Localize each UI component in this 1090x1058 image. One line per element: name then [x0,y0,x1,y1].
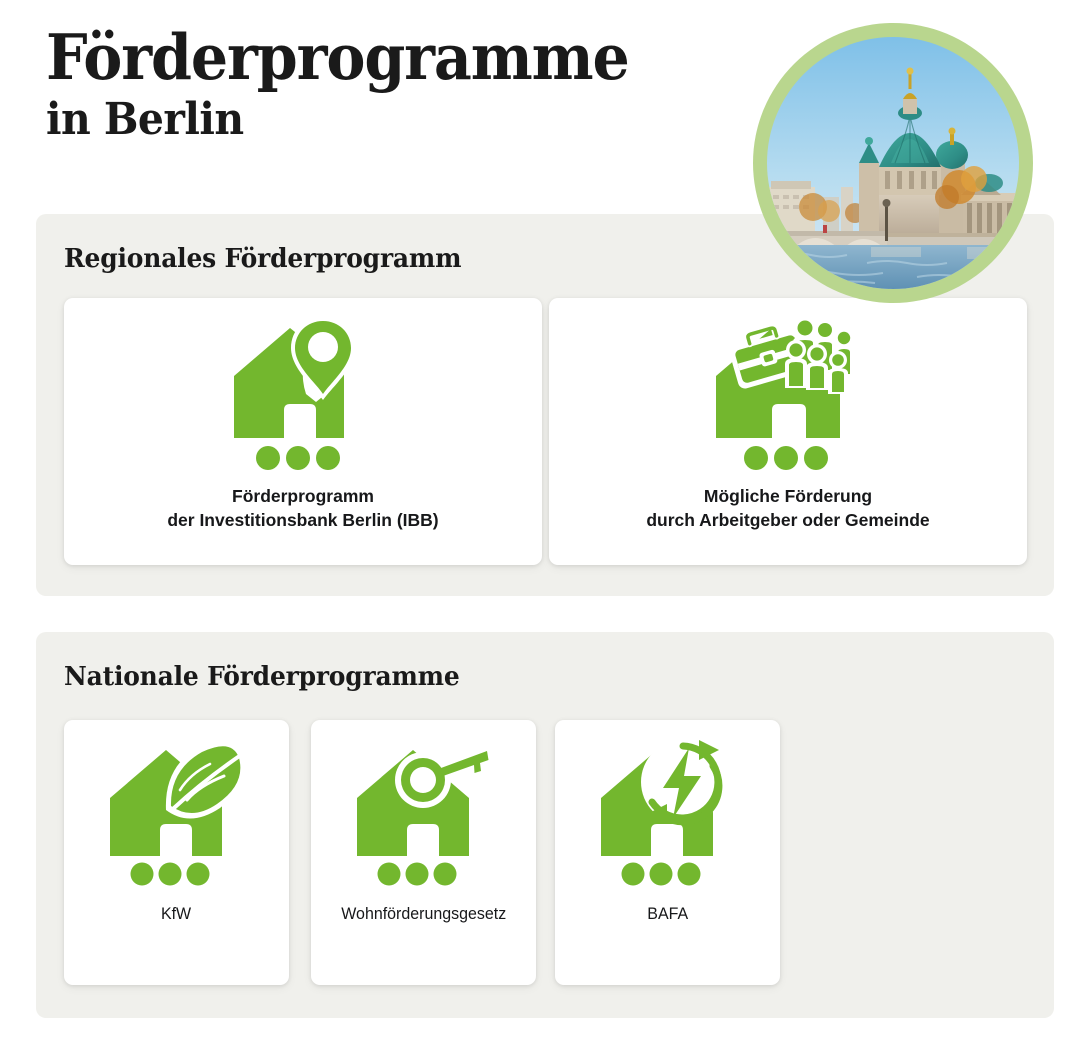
card-label-ibb: Förderprogramm der Investitionsbank Berl… [157,484,448,532]
berlin-cathedral-illustration [767,37,1019,289]
infographic-root: Förderprogramme in Berlin [0,0,1090,1058]
icon-slot [549,298,1027,484]
title-main: Förderprogramme [46,24,697,90]
title-subtitle: in Berlin [46,96,697,144]
page-title: Förderprogramme in Berlin [46,24,746,144]
card-ibb[interactable]: Förderprogramm der Investitionsbank Berl… [64,298,542,565]
icon-slot [555,720,780,902]
card-label-wohn: Wohnförderungsgesetz [332,902,516,926]
house-briefcase-people-icon [710,310,866,472]
section-heading-regional: Regionales Förderprogramm [64,244,461,274]
card-label-kfw: KfW [152,902,201,926]
card-label-arbeitgeber: Mögliche Förderung durch Arbeitgeber ode… [636,484,939,532]
icon-slot [64,720,289,902]
card-bafa[interactable]: BAFA [555,720,780,985]
berlin-cathedral-photo [753,23,1033,303]
card-wohn[interactable]: Wohnförderungsgesetz [311,720,536,985]
card-arbeitgeber[interactable]: Mögliche Förderung durch Arbeitgeber ode… [549,298,1027,565]
house-key-icon [351,732,497,890]
section-heading-national: Nationale Förderprogramme [64,662,460,692]
icon-slot [64,298,542,484]
icon-slot [311,720,536,902]
house-leaf-icon [104,732,250,890]
card-kfw[interactable]: KfW [64,720,289,985]
photo-clip [767,37,1019,289]
house-map-pin-icon [228,310,378,472]
card-label-bafa: BAFA [638,902,698,926]
house-energy-icon [595,732,741,890]
section-national: Nationale Förderprogramme KfW [36,632,1054,1018]
